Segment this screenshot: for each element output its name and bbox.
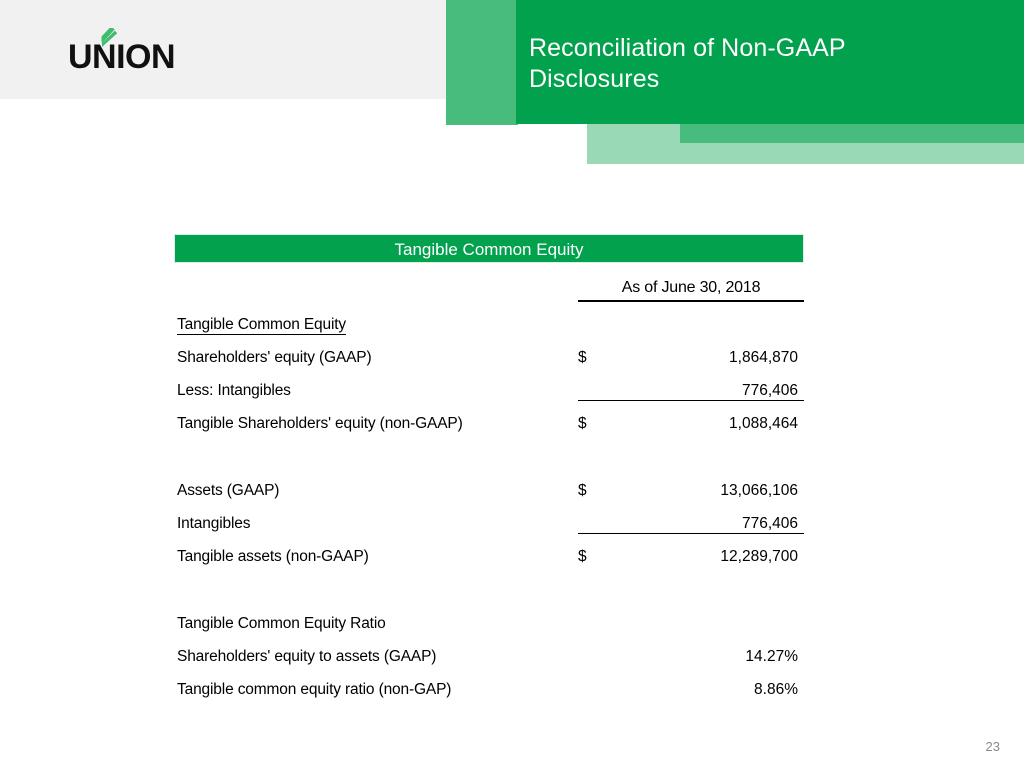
table-spacer-row bbox=[174, 433, 804, 467]
table-row: Tangible Common Equity bbox=[174, 301, 804, 334]
page-title: Reconciliation of Non-GAAP Disclosures bbox=[529, 33, 999, 95]
section-heading-tangible-common-equity: Tangible Common Equity bbox=[174, 301, 578, 334]
row-label: Tangible assets (non-GAAP) bbox=[174, 533, 578, 566]
table-spacer-row bbox=[174, 566, 804, 600]
row-value: 12,289,700 bbox=[618, 533, 804, 566]
row-currency-symbol: $ bbox=[578, 533, 618, 566]
header-light-green-band-lower bbox=[587, 143, 1024, 164]
row-label: Less: Intangibles bbox=[174, 367, 578, 400]
empty-symbol-cell bbox=[578, 600, 618, 633]
brand-wordmark: UNION bbox=[68, 38, 175, 77]
table-column-header: As of June 30, 2018 bbox=[578, 263, 804, 301]
table-header-spacer bbox=[174, 263, 578, 301]
header-accent-tab-left bbox=[446, 0, 518, 125]
row-value: 14.27% bbox=[618, 633, 804, 666]
table-row: Assets (GAAP) $ 13,066,106 bbox=[174, 467, 804, 500]
table-subtotal-row: Tangible assets (non-GAAP) $ 12,289,700 bbox=[174, 533, 804, 566]
row-value: 776,406 bbox=[618, 500, 804, 533]
table-subtotal-row: Tangible Shareholders' equity (non-GAAP)… bbox=[174, 400, 804, 433]
row-currency-symbol: $ bbox=[578, 467, 618, 500]
row-currency-symbol bbox=[578, 367, 618, 400]
row-currency-symbol bbox=[578, 633, 618, 666]
empty-value-cell bbox=[618, 600, 804, 633]
row-value: 1,864,870 bbox=[618, 334, 804, 367]
table-header-row: As of June 30, 2018 bbox=[174, 263, 804, 301]
row-label: Intangibles bbox=[174, 500, 578, 533]
table-row: Tangible Common Equity Ratio bbox=[174, 600, 804, 633]
empty-value-cell bbox=[618, 301, 804, 334]
row-value: 776,406 bbox=[618, 367, 804, 400]
section-heading-tangible-common-equity-ratio: Tangible Common Equity Ratio bbox=[174, 600, 578, 633]
row-currency-symbol bbox=[578, 500, 618, 533]
page-number: 23 bbox=[986, 739, 1000, 754]
row-label: Tangible common equity ratio (non-GAP) bbox=[174, 666, 578, 699]
row-label: Tangible Shareholders' equity (non-GAAP) bbox=[174, 400, 578, 433]
table-row: Less: Intangibles 776,406 bbox=[174, 367, 804, 400]
row-value: 13,066,106 bbox=[618, 467, 804, 500]
row-label: Assets (GAAP) bbox=[174, 467, 578, 500]
table-title-bar: Tangible Common Equity bbox=[174, 234, 804, 263]
table-row: Intangibles 776,406 bbox=[174, 500, 804, 533]
row-currency-symbol: $ bbox=[578, 334, 618, 367]
header-mid-green-band bbox=[680, 124, 1024, 143]
tangible-common-equity-table: Tangible Common Equity As of June 30, 20… bbox=[174, 234, 804, 699]
table-row: Shareholders' equity (GAAP) $ 1,864,870 bbox=[174, 334, 804, 367]
row-currency-symbol: $ bbox=[578, 400, 618, 433]
table-row: Tangible common equity ratio (non-GAP) 8… bbox=[174, 666, 804, 699]
table-grid: As of June 30, 2018 Tangible Common Equi… bbox=[174, 263, 804, 699]
slide-header: Reconciliation of Non-GAAP Disclosures U… bbox=[0, 0, 1024, 170]
empty-symbol-cell bbox=[578, 301, 618, 334]
table-row: Shareholders' equity to assets (GAAP) 14… bbox=[174, 633, 804, 666]
row-value: 8.86% bbox=[618, 666, 804, 699]
row-label: Shareholders' equity (GAAP) bbox=[174, 334, 578, 367]
brand-logo: UNION bbox=[68, 28, 228, 76]
row-label: Shareholders' equity to assets (GAAP) bbox=[174, 633, 578, 666]
row-currency-symbol bbox=[578, 666, 618, 699]
row-value: 1,088,464 bbox=[618, 400, 804, 433]
